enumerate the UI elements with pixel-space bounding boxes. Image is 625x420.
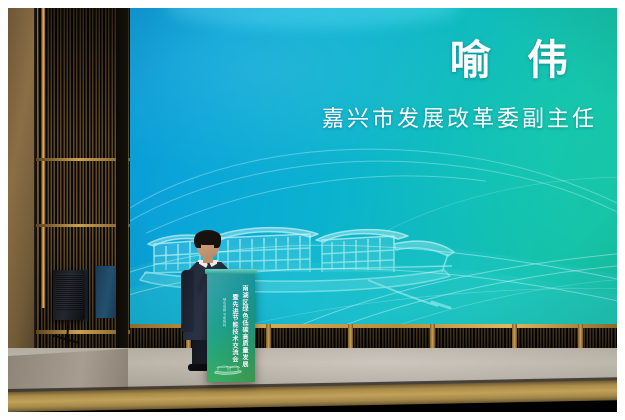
- podium-headline-line-1: 南湖区绿色低碳高质量发展: [241, 285, 247, 368]
- podium-subtitle: 绿色低碳 节能降耗: [221, 298, 225, 326]
- podium-top-surface: [205, 269, 257, 274]
- person-arm-left: [181, 270, 194, 332]
- wall-screen-gap: [116, 8, 128, 348]
- loudspeaker-grille: [56, 274, 82, 310]
- red-boat-logo: [213, 365, 243, 376]
- eyeglasses-icon: [198, 243, 218, 249]
- podium-headline-line-2: 暨先进节能技术交流会: [231, 294, 237, 363]
- wooden-slat-wall: [8, 8, 130, 376]
- pillar-edge-shadow: [34, 8, 37, 376]
- podium: 南湖区绿色低碳高质量发展 暨先进节能技术交流会 绿色低碳 节能降耗: [207, 272, 255, 382]
- speaker-title-text: 嘉兴市发展改革委副主任: [322, 109, 597, 131]
- speaker-name-text: 喻 伟: [450, 40, 579, 81]
- stage-photograph: 喻 伟 嘉兴市发展改革委副主任: [8, 8, 617, 412]
- stage-loudspeaker: [53, 270, 85, 320]
- photo-frame: 喻 伟 嘉兴市发展改革委副主任: [0, 0, 625, 420]
